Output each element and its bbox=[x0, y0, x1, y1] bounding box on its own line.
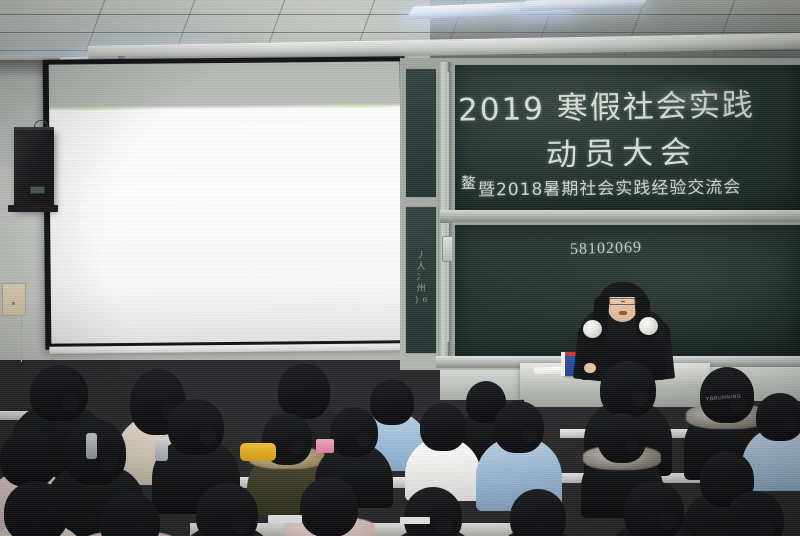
person-head bbox=[4, 481, 68, 536]
ceiling-grid-line bbox=[0, 32, 800, 33]
coat-pompom-left bbox=[583, 320, 602, 338]
wall-access-panel bbox=[2, 283, 26, 316]
audience-area: YBRUNNING bbox=[0, 355, 800, 536]
hair-bun bbox=[625, 439, 639, 453]
person-head bbox=[330, 407, 378, 457]
speaker-display-icon bbox=[30, 186, 45, 194]
notebook bbox=[400, 517, 430, 524]
presenter-mouth bbox=[619, 311, 627, 315]
yellow-bag bbox=[240, 443, 276, 461]
person-head bbox=[404, 487, 462, 536]
notebook bbox=[268, 515, 302, 523]
side-board-chalk-notes: 丿 人 冫 州 ) o bbox=[406, 250, 436, 320]
blackboard-title-line-2: 动员大会 bbox=[546, 127, 699, 175]
person-head bbox=[30, 365, 88, 421]
person-head bbox=[168, 399, 224, 455]
water-bottle bbox=[155, 437, 168, 461]
person-head bbox=[370, 379, 414, 425]
person-head bbox=[0, 429, 58, 487]
water-bottle bbox=[86, 433, 97, 459]
classroom-photo: 丿 人 冫 州 ) o 2019 寒假社会实践 动员大会 鳌 暨2018暑期社会… bbox=[0, 0, 800, 536]
hair-bun bbox=[758, 521, 775, 536]
blackboard-number: 58102069 bbox=[570, 239, 642, 259]
wall-panel-screw-icon bbox=[12, 302, 15, 305]
hair-bun bbox=[783, 418, 797, 432]
person-head bbox=[278, 363, 330, 419]
hair-bun bbox=[522, 428, 537, 443]
blackboard-subtitle-line-3: 暨2018暑期社会实践经验交流会 bbox=[478, 173, 742, 201]
hair-bun bbox=[357, 433, 371, 447]
hair-bun bbox=[290, 440, 305, 455]
blackboard-side-panel-upper bbox=[405, 68, 437, 198]
glasses-bridge bbox=[621, 301, 625, 302]
projection-screen[interactable] bbox=[43, 56, 408, 349]
person-head bbox=[100, 493, 160, 536]
person-head bbox=[420, 403, 466, 451]
blackboard-pull-cord bbox=[447, 72, 449, 342]
wall-speaker bbox=[14, 130, 54, 210]
person-head bbox=[756, 393, 800, 441]
presenter-hair-front bbox=[605, 283, 640, 297]
projection-screen-surface bbox=[49, 61, 403, 343]
ceiling-grid-line bbox=[0, 14, 800, 15]
person-head bbox=[300, 477, 358, 536]
person-head bbox=[600, 361, 656, 417]
blackboard-logo-glyph: 鳌 bbox=[461, 172, 476, 190]
pink-item bbox=[316, 439, 334, 453]
person-head bbox=[726, 491, 784, 536]
person-head bbox=[510, 489, 566, 536]
hair-bun bbox=[658, 512, 676, 530]
coat-pompom-right bbox=[639, 317, 658, 335]
hair-bun bbox=[99, 453, 118, 472]
person-head bbox=[624, 481, 684, 536]
person-head bbox=[598, 413, 646, 463]
hair-bun bbox=[231, 515, 250, 534]
speaker-bracket bbox=[8, 205, 58, 212]
person-head bbox=[494, 401, 544, 453]
blackboard-title-line-1: 2019 寒假社会实践 bbox=[458, 79, 755, 129]
